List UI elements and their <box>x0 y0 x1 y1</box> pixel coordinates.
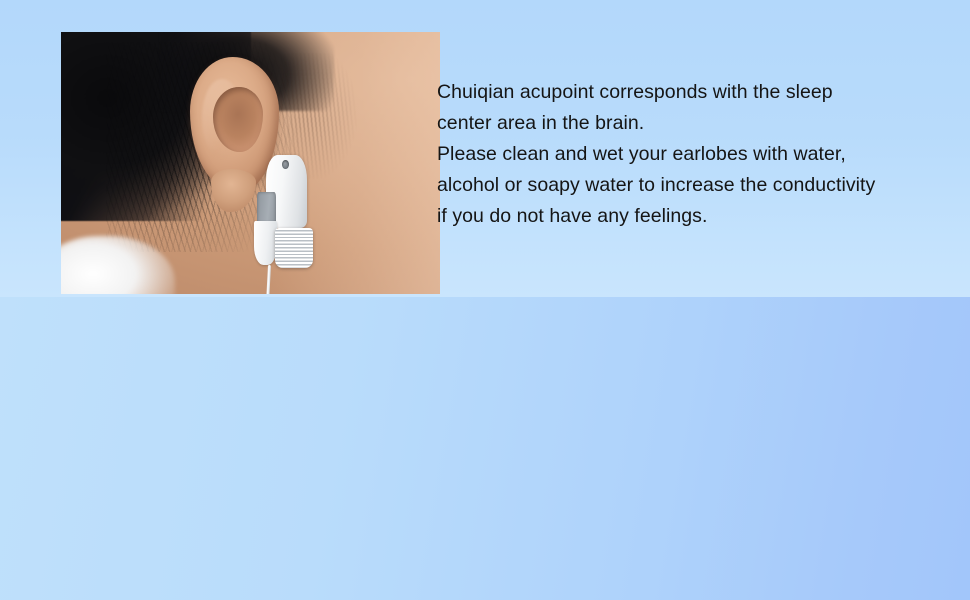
panel-acupoint: Chuiqian acupoint corresponds with the s… <box>0 0 970 297</box>
acupoint-description-text: Chuiqian acupoint corresponds with the s… <box>437 77 937 232</box>
panel-mechanism: With a low-amplitude electrical current … <box>0 297 970 600</box>
ear-clip-electrode-photo <box>61 32 440 294</box>
product-info-page: Chuiqian acupoint corresponds with the s… <box>0 0 970 600</box>
clip-ribbed-grip <box>275 228 313 267</box>
clip-pivot-hole <box>282 160 289 170</box>
ear-clip-device <box>241 155 336 286</box>
clip-rear-arm <box>254 221 277 266</box>
